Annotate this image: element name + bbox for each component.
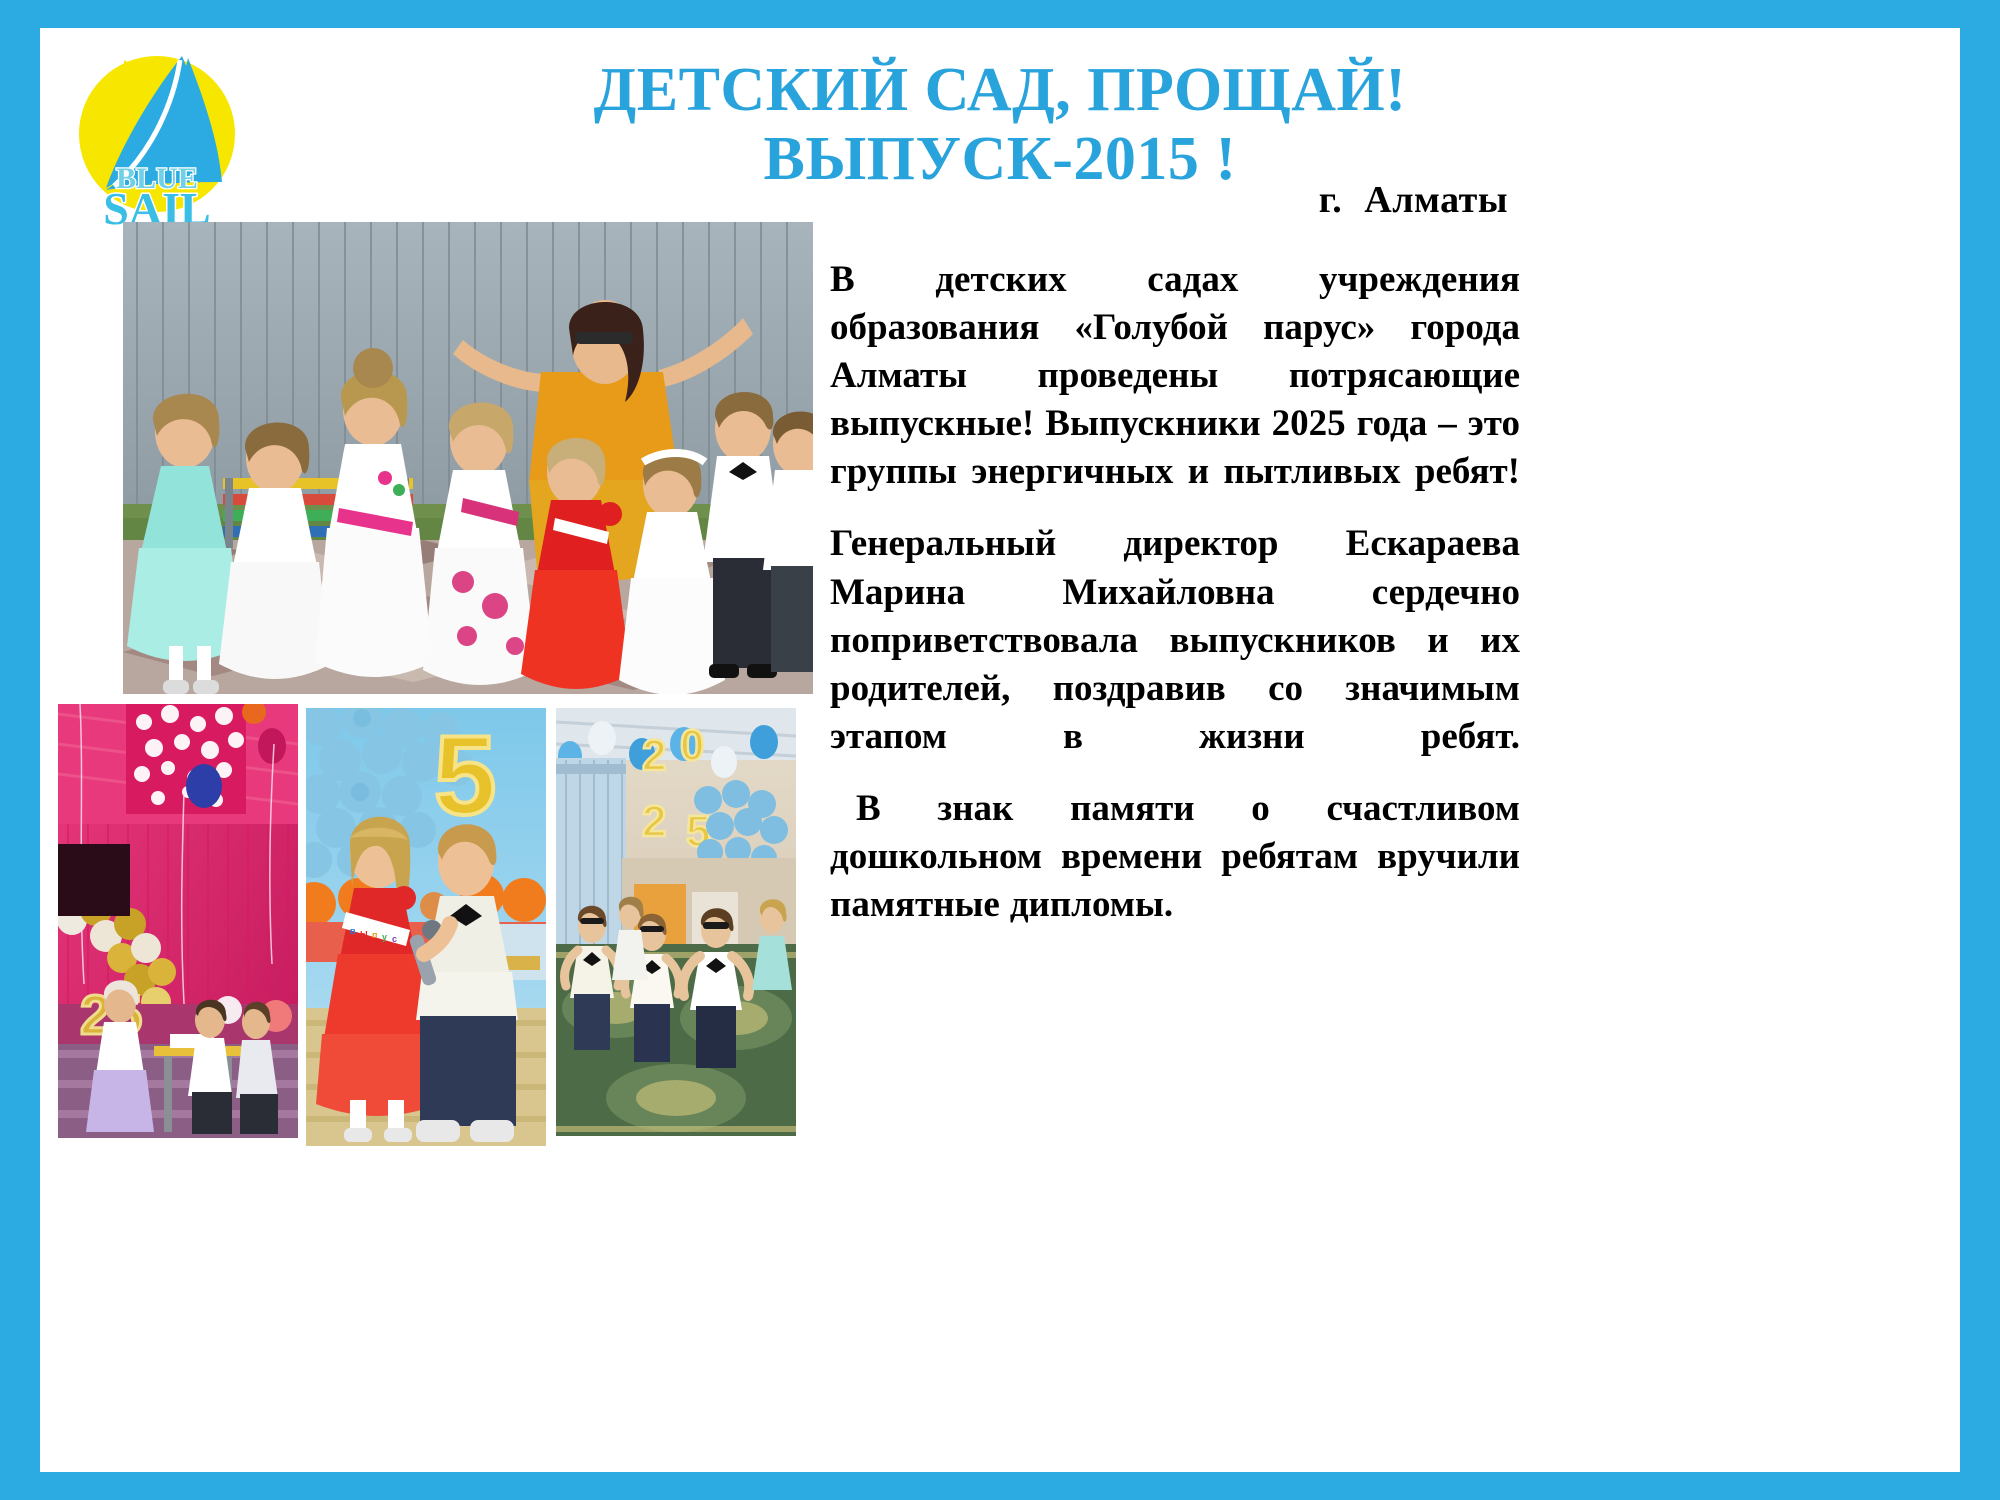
pink-decorated-hall-photo: 25 <box>58 704 298 1138</box>
kids-dancing-hall-photo: 2 0 2 5 <box>556 708 796 1136</box>
photo-graphic: 2 0 2 5 <box>556 708 796 1136</box>
svg-text:5: 5 <box>434 713 496 838</box>
svg-text:с: с <box>392 934 397 944</box>
blue-sail-logo-icon: BLUE SAIL <box>62 42 252 227</box>
city-name: Алматы <box>1364 179 1508 221</box>
paragraph-2: Генеральный директор Ескараева Марина Ми… <box>830 520 1520 760</box>
svg-text:2: 2 <box>642 797 666 846</box>
svg-text:п: п <box>372 930 377 940</box>
blue-sail-logo: BLUE SAIL <box>62 42 252 227</box>
svg-text:в: в <box>350 926 356 936</box>
svg-text:у: у <box>382 932 387 942</box>
paragraph-3: В знак памяти о счастливом дошкольном вр… <box>830 785 1520 929</box>
city-line: г.Алматы <box>830 178 1508 222</box>
article-text-column: г.Алматы В детских садах учреждения обра… <box>830 178 1520 953</box>
title-line-1: ДЕТСКИЙ САД, ПРОЩАЙ! <box>470 56 1530 125</box>
poster-page: BLUE SAIL ДЕТСКИЙ САД, ПРОЩАЙ! ВЫПУСК-20… <box>40 28 1960 1472</box>
svg-text:0: 0 <box>680 721 704 770</box>
svg-text:2: 2 <box>642 731 666 780</box>
photo-graphic <box>123 222 813 694</box>
photo-graphic: 5 <box>306 708 546 1146</box>
boy-with-microphone-photo: 5 <box>306 708 546 1146</box>
photo-graphic: 25 <box>58 704 298 1138</box>
graduation-outdoor-group-photo <box>123 222 813 694</box>
svg-text:ы: ы <box>360 928 368 938</box>
poster-title: ДЕТСКИЙ САД, ПРОЩАЙ! ВЫПУСК-2015 ! <box>470 56 1530 195</box>
logo-word-sail: SAIL <box>103 183 210 227</box>
paragraph-1: В детских садах учреждения образования «… <box>830 256 1520 496</box>
gold-number-5-balloon: 5 <box>434 713 496 838</box>
city-prefix: г. <box>1319 179 1342 221</box>
